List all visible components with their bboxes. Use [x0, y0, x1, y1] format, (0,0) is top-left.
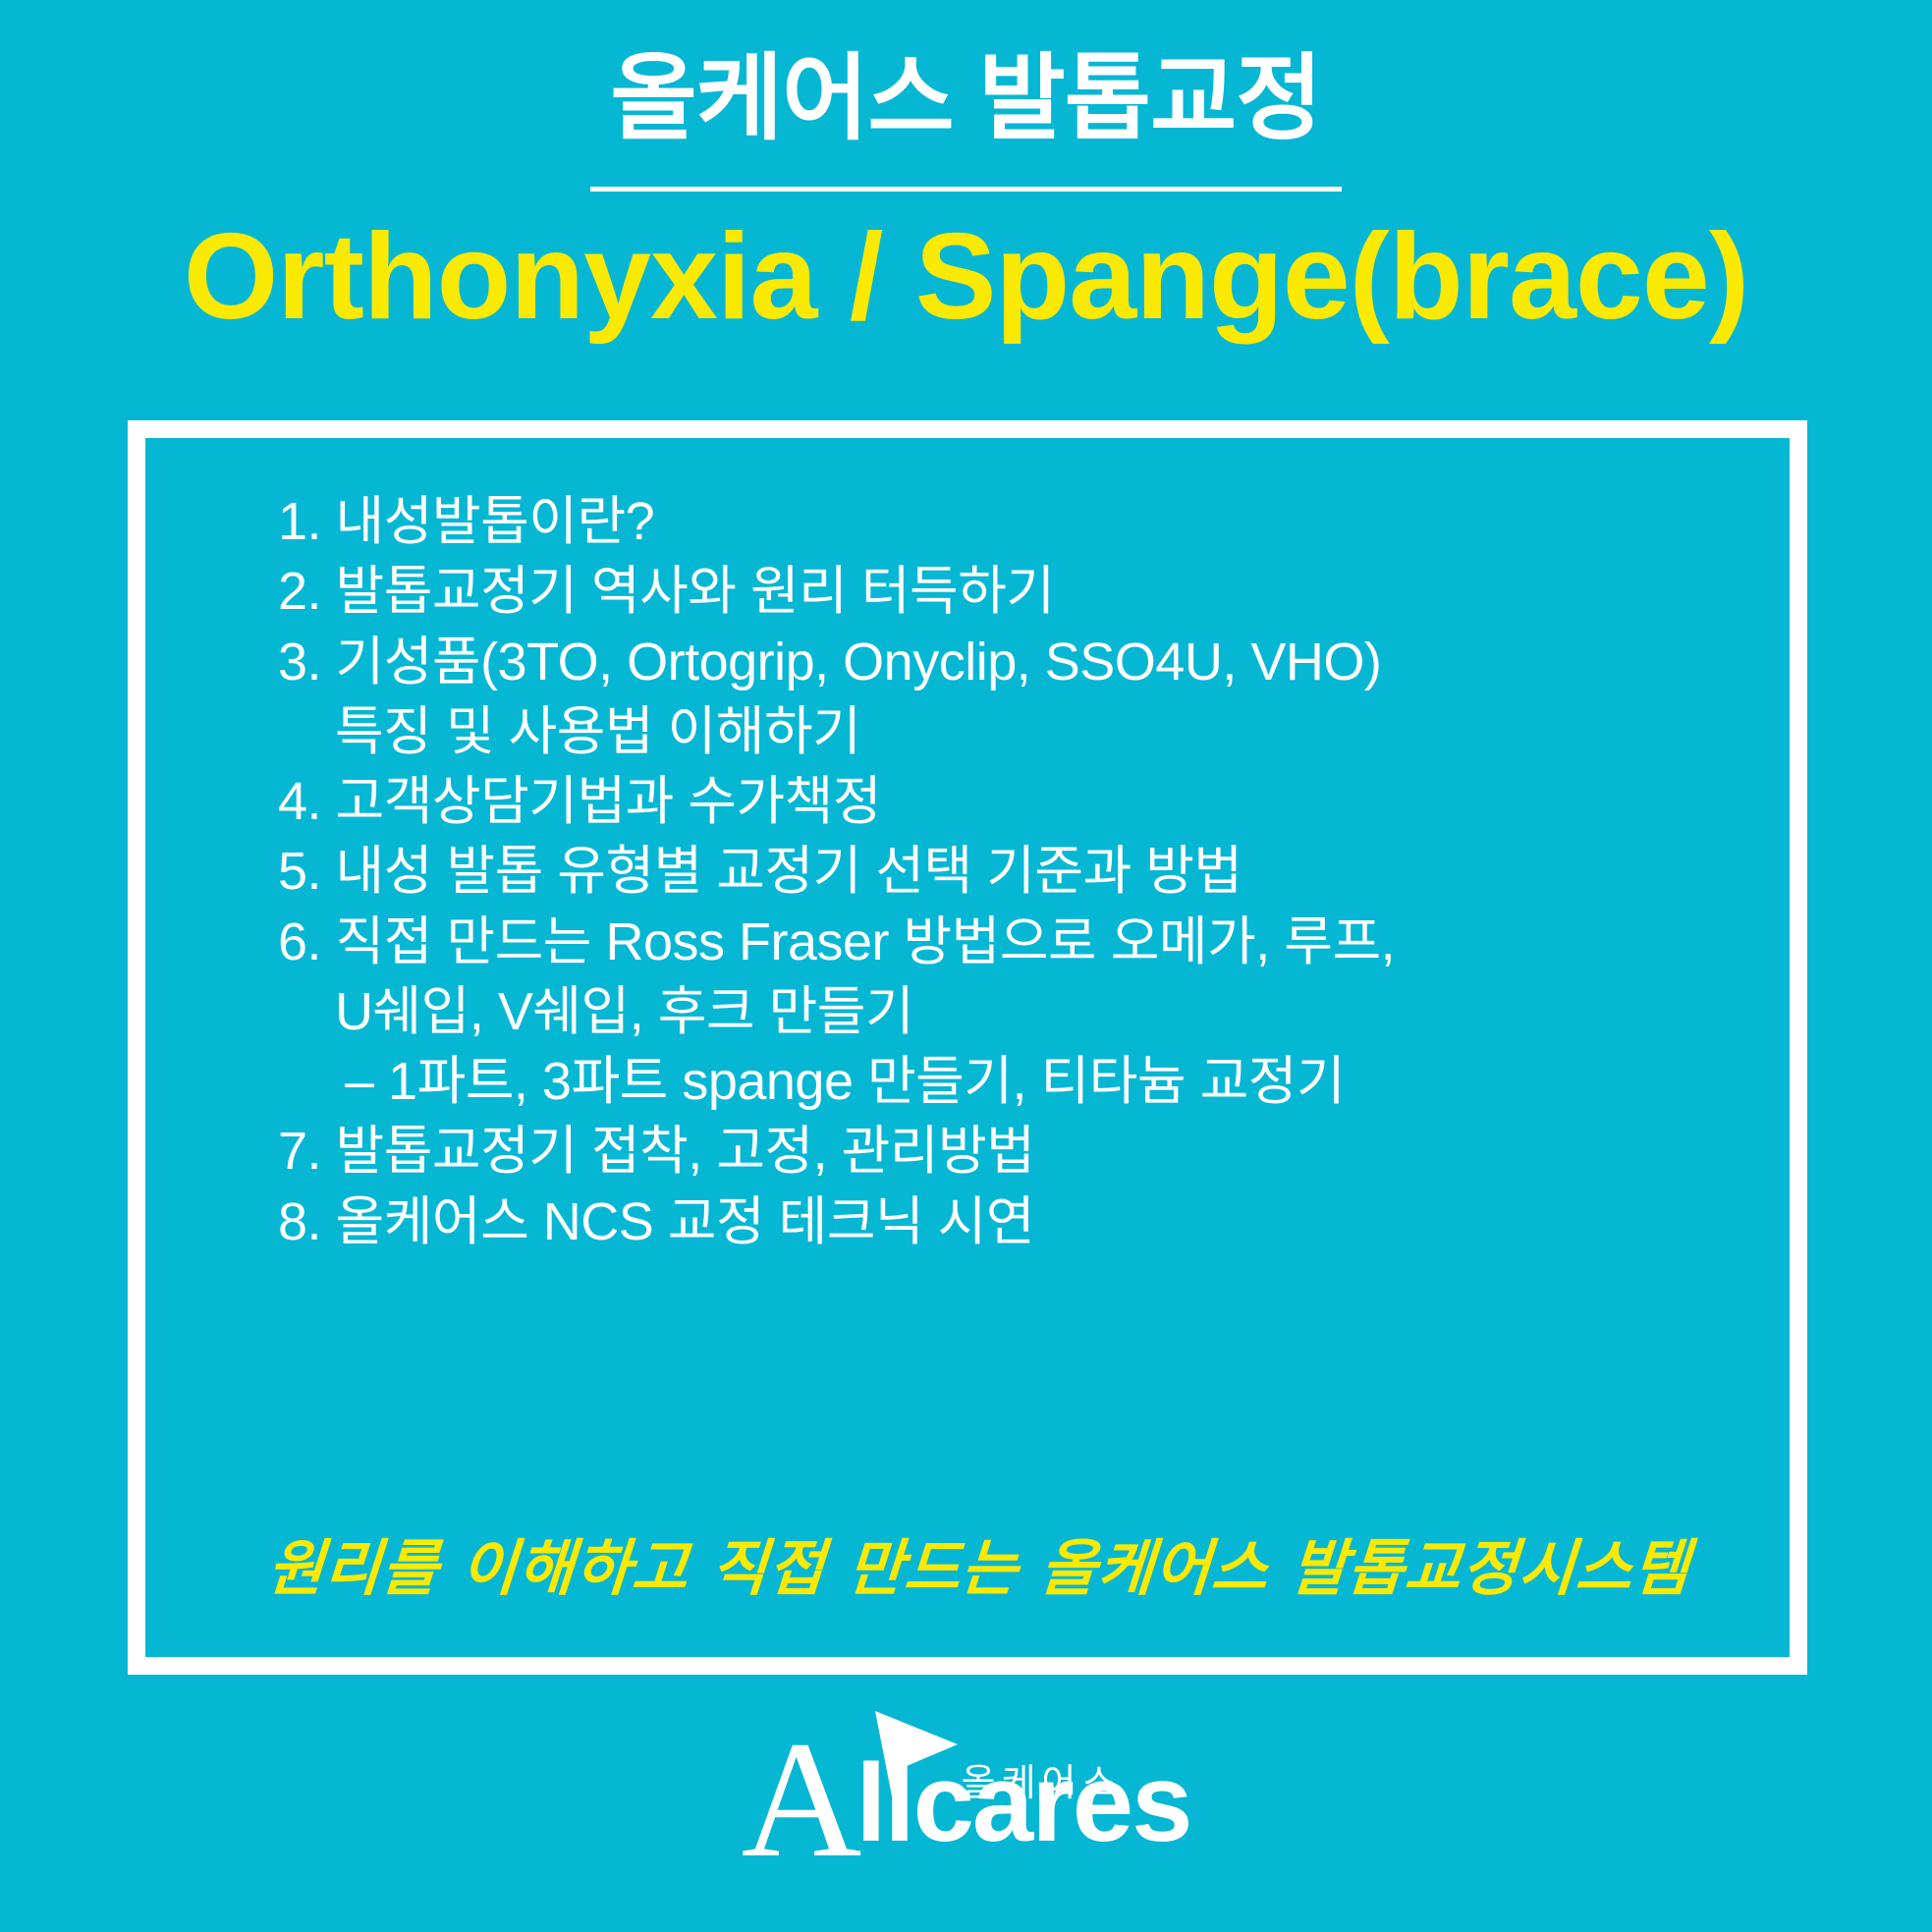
- curriculum-box: 1. 내성발톱이란? 2. 발톱교정기 역사와 원리 터득하기 3. 기성품(3…: [128, 420, 1807, 1675]
- tagline: 원리를 이해하고 직접 만드는 올케어스 발톱교정시스템: [265, 1518, 1693, 1607]
- logo-letter-a: A: [742, 1723, 862, 1876]
- curriculum-list: 1. 내성발톱이란? 2. 발톱교정기 역사와 원리 터득하기 3. 기성품(3…: [278, 487, 1760, 1257]
- list-item: 7. 발톱교정기 접착, 고정, 관리방법: [278, 1117, 1760, 1187]
- list-item: 4. 고객상담기법과 수가책정: [278, 767, 1760, 837]
- brand-logo: A llcares 올케어스: [0, 1699, 1932, 1876]
- list-item-line: 7. 발톱교정기 접착, 고정, 관리방법: [278, 1122, 1034, 1181]
- list-item-line: 4. 고객상담기법과 수가책정: [278, 772, 881, 831]
- list-item: 6. 직접 만드는 Ross Fraser 방법으로 오메가, 루프, U쉐입,…: [278, 908, 1760, 1118]
- list-item: 2. 발톱교정기 역사와 원리 터득하기: [278, 557, 1760, 627]
- poster-root: 올케어스 발톱교정 Orthonyxia / Spange(brace) 1. …: [0, 0, 1932, 1932]
- list-item: 5. 내성 발톱 유형별 교정기 선택 기준과 방법: [278, 837, 1760, 907]
- list-item: 8. 올케어스 NCS 교정 테크닉 시연: [278, 1187, 1760, 1257]
- list-item-line: 3. 기성품(3TO, Ortogrip, Onyclip, SSO4U, VH…: [278, 633, 1381, 691]
- list-item-subline: U쉐입, V쉐입, 후크 만들기: [278, 977, 1760, 1047]
- list-item-line: 1. 내성발톱이란?: [278, 492, 654, 551]
- list-item: 1. 내성발톱이란?: [278, 487, 1760, 557]
- list-item: 3. 기성품(3TO, Ortogrip, Onyclip, SSO4U, VH…: [278, 628, 1760, 768]
- title-divider: [590, 187, 1342, 192]
- list-item-line: 5. 내성 발톱 유형별 교정기 선택 기준과 방법: [278, 842, 1242, 901]
- list-item-line: 8. 올케어스 NCS 교정 테크닉 시연: [278, 1192, 1034, 1251]
- page-title-english: Orthonyxia / Spange(brace): [0, 213, 1932, 341]
- list-item-line: 6. 직접 만드는 Ross Fraser 방법으로 오메가, 루프,: [278, 912, 1395, 971]
- list-item-dashline: – 1파트, 3파트 spange 만들기, 티타늄 교정기: [278, 1047, 1760, 1117]
- logo-korean-label: 올케어스: [962, 1752, 1123, 1806]
- header: 올케어스 발톱교정 Orthonyxia / Spange(brace): [0, 0, 1932, 341]
- list-item-line: 2. 발톱교정기 역사와 원리 터득하기: [278, 562, 1055, 621]
- list-item-subline: 특징 및 사용법 이해하기: [278, 697, 1760, 767]
- page-title-korean: 올케어스 발톱교정: [0, 47, 1932, 151]
- triangular-flag-icon: [873, 1711, 958, 1811]
